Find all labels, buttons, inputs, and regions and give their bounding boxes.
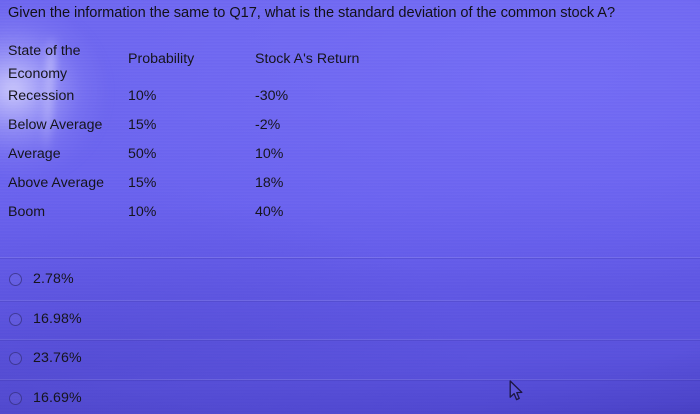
option-divider — [0, 300, 700, 301]
cell-state: Above Average — [8, 175, 104, 191]
cell-return: -2% — [255, 117, 280, 133]
answer-option-label: 2.78% — [33, 271, 74, 287]
column-header-stock-a-return: Stock A's Return — [255, 51, 359, 67]
cell-return: -30% — [255, 88, 288, 104]
column-header-probability: Probability — [128, 51, 194, 67]
answer-option-2[interactable]: 16.98% — [9, 307, 82, 331]
radio-button-icon[interactable] — [9, 313, 22, 326]
radio-button-icon[interactable] — [9, 273, 22, 286]
quiz-content: Given the information the same to Q17, w… — [0, 0, 700, 414]
cell-probability: 15% — [128, 175, 156, 191]
cell-state: Average — [8, 146, 61, 162]
answer-option-label: 16.98% — [33, 311, 82, 327]
answer-option-1[interactable]: 2.78% — [9, 267, 74, 291]
radio-button-icon[interactable] — [9, 352, 22, 365]
cell-probability: 10% — [128, 88, 156, 104]
table-row: Boom 10% 40% — [8, 202, 428, 231]
cell-probability: 10% — [128, 204, 156, 220]
probability-distribution-table: State of the Economy Probability Stock A… — [8, 40, 428, 231]
question-text: Given the information the same to Q17, w… — [8, 3, 696, 23]
table-row: Recession 10% -30% — [8, 86, 428, 115]
option-divider — [0, 257, 700, 258]
cell-return: 18% — [255, 175, 283, 191]
table-header-row: State of the Economy Probability Stock A… — [8, 40, 428, 86]
cell-probability: 15% — [128, 117, 156, 133]
answer-option-label: 16.69% — [33, 390, 82, 406]
column-header-state-line-1: State of the — [8, 40, 126, 63]
option-divider — [0, 379, 700, 380]
cell-state: Below Average — [8, 117, 102, 133]
cell-state: Boom — [8, 204, 45, 220]
answer-option-4[interactable]: 16.69% — [9, 386, 82, 410]
option-divider — [0, 339, 700, 340]
answer-option-3[interactable]: 23.76% — [9, 346, 82, 370]
table-row: Above Average 15% 18% — [8, 173, 428, 202]
cell-probability: 50% — [128, 146, 156, 162]
cell-state: Recession — [8, 88, 74, 104]
radio-button-icon[interactable] — [9, 392, 22, 405]
cell-return: 10% — [255, 146, 283, 162]
answer-option-label: 23.76% — [33, 350, 82, 366]
screen-photo: Given the information the same to Q17, w… — [0, 0, 700, 414]
table-row: Average 50% 10% — [8, 144, 428, 173]
table-row: Below Average 15% -2% — [8, 115, 428, 144]
column-header-state-line-2: Economy — [8, 63, 126, 86]
cell-return: 40% — [255, 204, 283, 220]
column-header-state-of-economy: State of the Economy — [8, 40, 126, 86]
